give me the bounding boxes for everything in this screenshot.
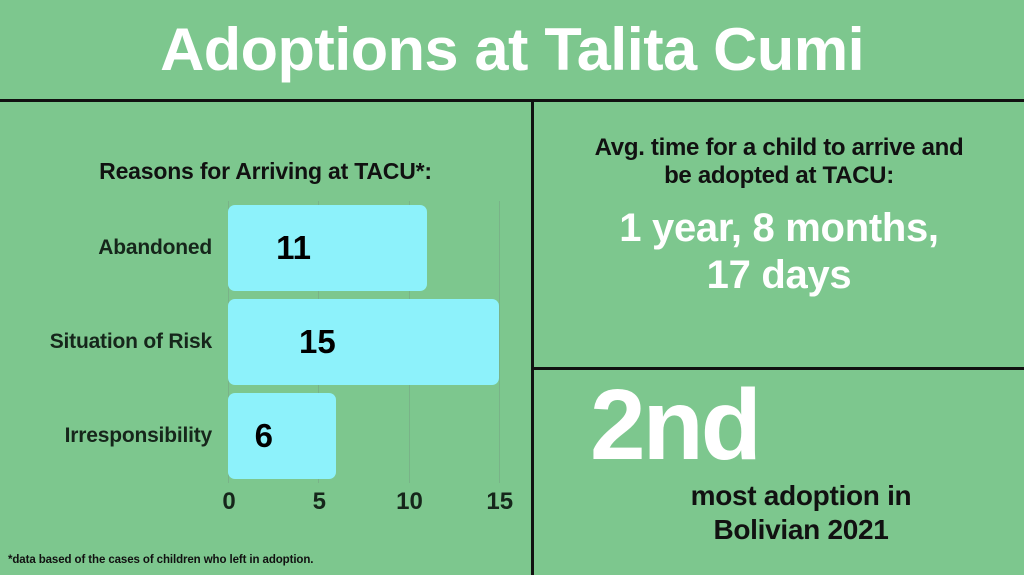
chart-category-label: Abandoned (0, 201, 212, 295)
chart-bar-value-label: 15 (228, 323, 499, 361)
ranking-caption: most adoption in Bolivian 2021 (534, 479, 1024, 546)
chart-x-tick-label: 15 (486, 488, 513, 516)
ranking-caption-line-2: Bolivian 2021 (578, 513, 1024, 547)
avg-time-value-line-1: 1 year, 8 months, (544, 205, 1014, 252)
page-title: Adoptions at Talita Cumi (160, 20, 864, 80)
avg-time-value: 1 year, 8 months, 17 days (544, 205, 1014, 299)
avg-time-value-line-2: 17 days (544, 252, 1014, 299)
chart-category-label: Situation of Risk (0, 295, 212, 389)
ranking-number: 2nd (534, 375, 1024, 475)
chart-bar-value-label: 6 (228, 417, 336, 455)
chart-x-tick-label: 0 (222, 488, 235, 516)
chart-bar-row: Irresponsibility6 (0, 389, 531, 483)
ranking-panel: 2nd most adoption in Bolivian 2021 (534, 371, 1024, 575)
chart-bar-row: Situation of Risk15 (0, 295, 531, 389)
chart-x-axis: 051015 (0, 488, 531, 522)
chart-bar-value-label: 11 (228, 229, 427, 267)
avg-time-caption: Avg. time for a child to arrive and be a… (544, 134, 1014, 191)
chart-x-tick-label: 10 (396, 488, 423, 516)
infographic-root: Adoptions at Talita Cumi Reasons for Arr… (0, 0, 1024, 575)
chart-panel: Reasons for Arriving at TACU*: Abandoned… (0, 102, 531, 575)
avg-time-caption-line-1: Avg. time for a child to arrive and (544, 134, 1014, 162)
avg-time-caption-line-2: be adopted at TACU: (544, 162, 1014, 190)
chart-category-label: Irresponsibility (0, 389, 212, 483)
chart-bar[interactable]: 15 (228, 299, 499, 385)
header-band: Adoptions at Talita Cumi (0, 0, 1024, 100)
chart-bar-row: Abandoned11 (0, 201, 531, 295)
chart-bar[interactable]: 11 (228, 205, 427, 291)
chart-x-tick-label: 5 (313, 488, 326, 516)
ranking-caption-line-1: most adoption in (578, 479, 1024, 513)
chart-bar[interactable]: 6 (228, 393, 336, 479)
chart-footnote: *data based of the cases of children who… (8, 554, 313, 566)
avg-time-panel: Avg. time for a child to arrive and be a… (534, 102, 1024, 367)
